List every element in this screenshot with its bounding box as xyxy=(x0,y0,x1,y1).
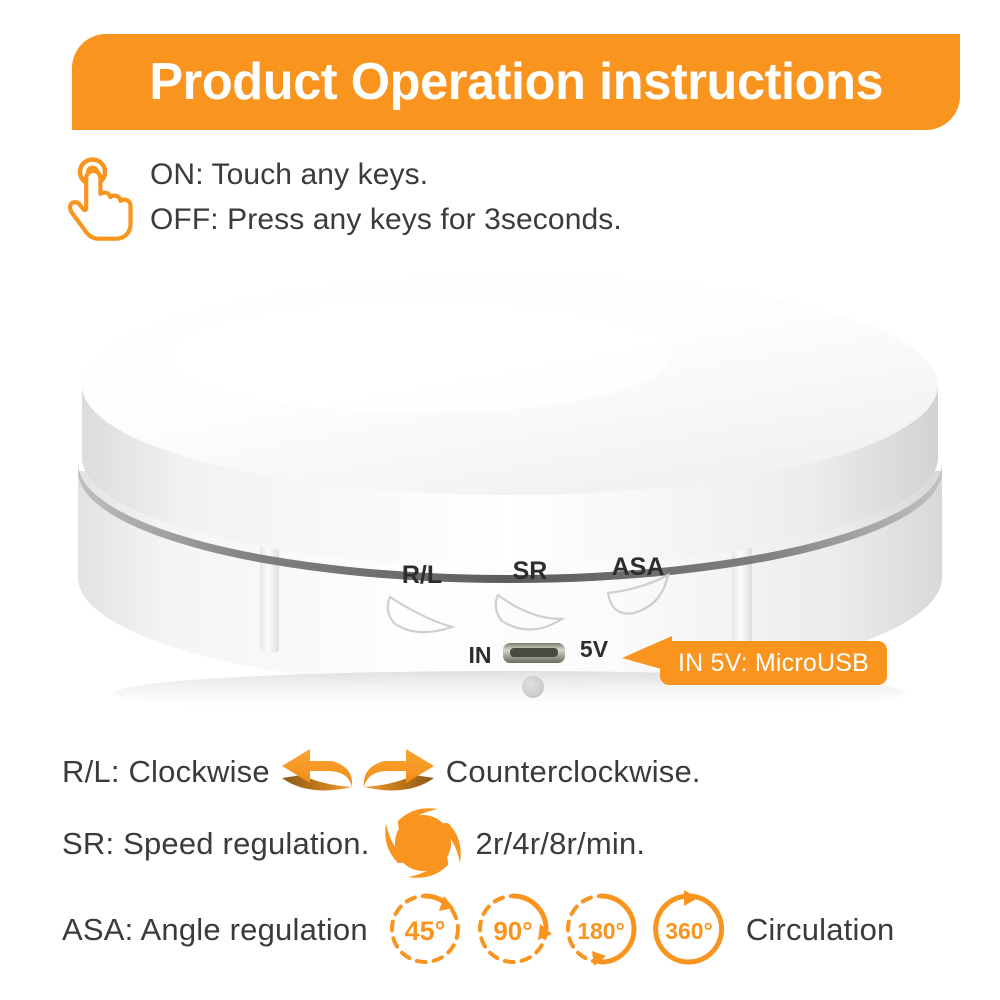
feature-rl-label: R/L: Clockwise xyxy=(62,756,270,787)
angle-badge-360-label: 360° xyxy=(665,918,713,944)
usb-callout-label: IN 5V: MicroUSB xyxy=(678,649,869,678)
device-button-label-sr: SR xyxy=(513,557,548,585)
feature-row-asa: ASA: Angle regulation 45° 90° 180° 360° … xyxy=(62,898,894,960)
clockwise-arrow-icon xyxy=(276,745,358,797)
angle-badge-180-label: 180° xyxy=(577,918,625,944)
usb-callout: IN 5V: MicroUSB xyxy=(660,641,887,685)
feature-row-sr: SR: Speed regulation. 2r/4r/8r/min. xyxy=(62,812,645,874)
device-port-label-5v: 5V xyxy=(580,636,609,662)
angle-badge-360: 360° xyxy=(646,886,732,972)
power-on-line: ON: Touch any keys. xyxy=(150,152,622,197)
spin-speed-icon xyxy=(380,799,466,887)
angle-badge-180: 180° xyxy=(558,886,644,972)
feature-rl-trailing-label: Counterclockwise. xyxy=(446,756,701,787)
angle-badge-90-label: 90° xyxy=(493,916,532,946)
rotation-arrows xyxy=(276,745,440,797)
device-button-label-rl: R/L xyxy=(402,561,442,589)
feature-row-rl: R/L: Clockwise Counter xyxy=(62,742,701,800)
angle-badge-45-label: 45° xyxy=(404,916,445,946)
header-banner: Product Operation instructions xyxy=(72,34,960,130)
power-instructions-block: ON: Touch any keys. OFF: Press any keys … xyxy=(62,152,822,252)
power-lines: ON: Touch any keys. OFF: Press any keys … xyxy=(150,152,622,242)
feature-asa-label: ASA: Angle regulation xyxy=(62,914,368,945)
page-title: Product Operation instructions xyxy=(149,56,883,108)
touch-hand-icon xyxy=(62,156,144,248)
device-button-label-asa: ASA xyxy=(612,553,665,581)
device-port-label-in: IN xyxy=(469,642,492,668)
counterclockwise-arrow-icon xyxy=(358,745,440,797)
feature-sr-label: SR: Speed regulation. xyxy=(62,828,370,859)
feature-sr-values: 2r/4r/8r/min. xyxy=(476,828,646,859)
angle-badge-45: 45° xyxy=(382,886,468,972)
power-off-line: OFF: Press any keys for 3seconds. xyxy=(150,197,622,242)
angle-badge-90: 90° xyxy=(470,886,556,972)
feature-asa-trailing-label: Circulation xyxy=(746,914,895,945)
